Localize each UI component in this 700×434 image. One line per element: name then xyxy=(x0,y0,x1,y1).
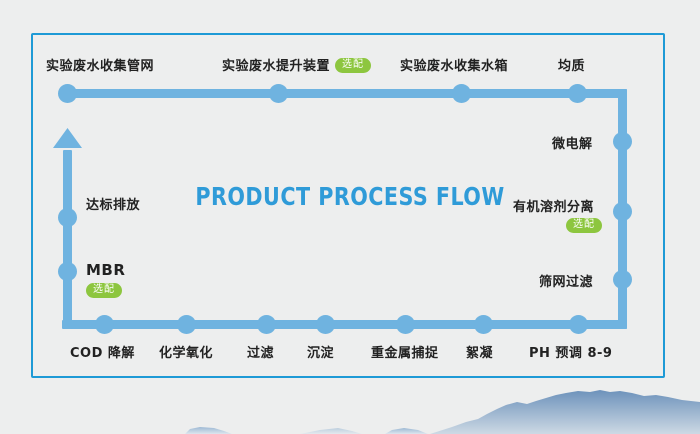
node-top-3[interactable] xyxy=(452,84,471,103)
step-label-bottom-2: 化学氧化 xyxy=(159,342,213,361)
optional-badge-left-2: 选配 xyxy=(86,280,122,299)
node-bottom-3[interactable] xyxy=(257,315,276,334)
step-label-bottom-7: PH 预调 8-9 xyxy=(529,342,612,361)
badge-text: 选配 xyxy=(566,218,602,233)
node-left-1[interactable] xyxy=(58,208,77,227)
step-label-right-3: 筛网过滤 xyxy=(539,271,593,290)
step-label-bottom-5: 重金属捕捉 xyxy=(371,342,439,361)
step-label-top-2: 实验废水提升装置 xyxy=(222,55,330,74)
node-right-2[interactable] xyxy=(613,202,632,221)
node-left-2[interactable] xyxy=(58,262,77,281)
step-label-bottom-1: COD 降解 xyxy=(70,342,135,361)
step-label-top-1: 实验废水收集管网 xyxy=(46,55,154,74)
step-label-left-2: MBR xyxy=(86,261,125,279)
node-bottom-1[interactable] xyxy=(95,315,114,334)
optional-badge-top-2: 选配 xyxy=(335,55,371,74)
node-bottom-6[interactable] xyxy=(474,315,493,334)
node-right-3[interactable] xyxy=(613,270,632,289)
badge-text: 选配 xyxy=(86,283,122,298)
node-bottom-4[interactable] xyxy=(316,315,335,334)
node-bottom-7[interactable] xyxy=(569,315,588,334)
node-right-1[interactable] xyxy=(613,132,632,151)
badge-text: 选配 xyxy=(335,58,371,73)
node-top-2[interactable] xyxy=(269,84,288,103)
node-top-1[interactable] xyxy=(58,84,77,103)
node-bottom-2[interactable] xyxy=(177,315,196,334)
step-label-right-2: 有机溶剂分离 xyxy=(513,196,594,215)
step-label-left-1: 达标排放 xyxy=(86,194,140,213)
step-label-top-3: 实验废水收集水箱 xyxy=(400,55,508,74)
mountain-silhouette-decoration xyxy=(0,380,700,434)
step-label-bottom-3: 过滤 xyxy=(247,342,274,361)
step-label-top-4: 均质 xyxy=(558,55,585,74)
step-label-right-1: 微电解 xyxy=(552,133,593,152)
node-bottom-5[interactable] xyxy=(396,315,415,334)
track-top xyxy=(62,89,627,98)
track-left xyxy=(63,150,72,329)
process-flow-diagram: PRODUCT PROCESS FLOW 实验废水收集管网 实验废水提升装置 选… xyxy=(0,0,700,434)
flow-direction-arrow-icon xyxy=(53,128,82,154)
node-top-4[interactable] xyxy=(568,84,587,103)
optional-badge-right-2: 选配 xyxy=(566,215,602,234)
track-bottom xyxy=(62,320,627,329)
step-label-bottom-4: 沉淀 xyxy=(307,342,334,361)
step-label-bottom-6: 絮凝 xyxy=(466,342,493,361)
